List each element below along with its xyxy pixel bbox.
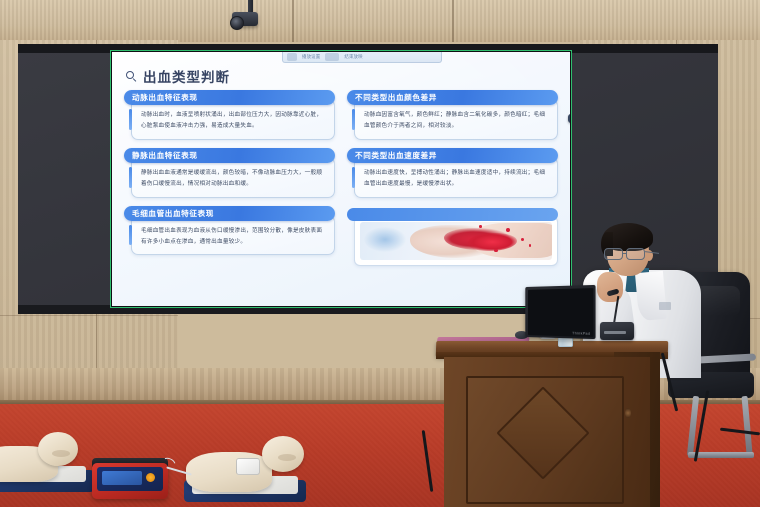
card-header-label: 不同类型出血速度差异	[355, 150, 437, 161]
wall-panel-line	[0, 315, 178, 316]
card-body-text: 毛细血管出血表现为血液从伤口缓慢渗出，范围较分散，像是皮肤表面有许多小血点在渗血…	[141, 226, 326, 248]
aed-electrode-pad	[236, 458, 260, 475]
card-header: 不同类型出血速度差异	[347, 148, 558, 163]
presentation-toolbar[interactable]: 播放设置 结束放映	[282, 52, 442, 63]
manikin-face	[52, 450, 70, 457]
aed-shock-button[interactable]	[146, 473, 155, 482]
toolbar-chip[interactable]	[287, 53, 297, 61]
slide-columns: 动脉出血特征表现 动脉出血时，血液呈喷射状涌出，出血部位压力大，因动脉靠近心脏，…	[124, 90, 558, 298]
ceiling-wall	[0, 0, 760, 42]
toolbar-end-show[interactable]: 结束放映	[344, 54, 362, 60]
cpr-manikin-right	[178, 432, 314, 507]
bleeding-wound-photo	[360, 222, 552, 260]
camera-lens-icon	[230, 16, 244, 30]
card-header: 不同类型出血颜色差异	[347, 90, 558, 105]
lecture-hall-screenshot: 播放设置 结束放映 出血类型判断 动脉出血特征表现 动脉出血时，血液呈喷射状涌	[0, 0, 760, 507]
card-header-label: 不同类型出血颜色差异	[355, 92, 437, 103]
eyeglasses-icon	[604, 248, 652, 261]
laptop[interactable]: ThinkPad	[525, 285, 595, 339]
card-header-label: 动脉出血特征表现	[132, 92, 198, 103]
toolbar-chip[interactable]	[325, 53, 339, 61]
cpr-manikin-left	[0, 424, 106, 496]
card-body-text: 动脉血因富含氧气，颜色鲜红；静脉血含二氧化碳多，颜色暗红；毛细血管颜色介于两者之…	[364, 110, 549, 132]
projected-slide[interactable]: 播放设置 结束放映 出血类型判断 动脉出血特征表现 动脉出血时，血液呈喷射状涌	[110, 50, 572, 308]
slide-right-column: 不同类型出血颜色差异 动脉血因富含氧气，颜色鲜红；静脉血含二氧化碳多，颜色暗红；…	[347, 90, 558, 298]
slide-title-row: 出血类型判断	[126, 66, 230, 86]
podium-handle	[625, 408, 631, 418]
wall-seam	[292, 0, 294, 42]
card-body: 毛细血管出血表现为血液从伤口缓慢渗出，范围较分散，像是皮肤表面有许多小血点在渗血…	[131, 215, 335, 256]
aed-trainer[interactable]	[92, 463, 168, 499]
card-header: 静脉出血特征表现	[124, 148, 335, 163]
aed-display	[102, 471, 142, 485]
card-body: 动脉血因富含氧气，颜色鲜红；静脉血含二氧化碳多，颜色暗红；毛细血管颜色介于两者之…	[354, 99, 558, 140]
photo-blue-wash	[364, 227, 406, 252]
card-body: 动脉出血时，血液呈喷射状涌出，出血部位压力大，因动脉靠近心脏，心脏泵血使血液冲击…	[131, 99, 335, 140]
card-bleeding-photo	[347, 208, 558, 266]
card-body-text: 动脉出血时，血液呈喷射状涌出，出血部位压力大，因动脉靠近心脏，心脏泵血使血液冲击…	[141, 110, 326, 132]
card-header-label: 毛细血管出血特征表现	[132, 208, 214, 219]
card-body-text: 动脉出血速度快，呈搏动性涌出；静脉出血速度适中，持续流出；毛细血管出血速度最慢，…	[364, 168, 549, 190]
card-color-difference: 不同类型出血颜色差异 动脉血因富含氧气，颜色鲜红；静脉血含二氧化碳多，颜色暗红；…	[347, 90, 558, 140]
card-header: 毛细血管出血特征表现	[124, 206, 335, 221]
photo-card-header	[347, 208, 558, 221]
card-body: 动脉出血速度快，呈搏动性涌出；静脉出血速度适中，持续流出；毛细血管出血速度最慢，…	[354, 157, 558, 198]
card-header: 动脉出血特征表现	[124, 90, 335, 105]
magnifier-icon	[126, 71, 137, 82]
photo-blood-droplet	[479, 225, 482, 228]
slide-left-column: 动脉出血特征表现 动脉出血时，血液呈喷射状涌出，出血部位压力大，因动脉靠近心脏，…	[124, 90, 335, 298]
page-title: 出血类型判断	[143, 66, 230, 86]
card-body: 静脉出血血液通常是缓缓流出，颜色较暗，不像动脉血压力大，一般顺着伤口缓慢流出，情…	[131, 157, 335, 198]
card-speed-difference: 不同类型出血速度差异 动脉出血速度快，呈搏动性涌出；静脉出血速度适中，持续流出；…	[347, 148, 558, 198]
laptop-screen-bezel	[528, 288, 593, 337]
manikin-head	[38, 432, 78, 466]
photo-card-body	[354, 216, 558, 266]
card-capillary-bleeding: 毛细血管出血特征表现 毛细血管出血表现为血液从伤口缓慢渗出，范围较分散，像是皮肤…	[124, 206, 335, 256]
glasses-lens-left	[604, 248, 623, 260]
slide-collapse-button[interactable]	[568, 114, 570, 123]
card-body-text: 静脉出血血液通常是缓缓流出，颜色较暗，不像动脉血压力大，一般顺着伤口缓慢流出，情…	[141, 168, 326, 190]
microphone-label	[604, 331, 626, 334]
wall-seam	[452, 0, 454, 42]
card-header-label: 静脉出血特征表现	[132, 150, 198, 161]
card-arterial-bleeding: 动脉出血特征表现 动脉出血时，血液呈喷射状涌出，出血部位压力大，因动脉靠近心脏，…	[124, 90, 335, 140]
toolbar-play-settings[interactable]: 播放设置	[302, 54, 320, 60]
glasses-lens-right	[626, 248, 645, 260]
card-venous-bleeding: 静脉出血特征表现 静脉出血血液通常是缓缓流出，颜色较暗，不像动脉血压力大，一般顺…	[124, 148, 335, 198]
presenter-badge	[659, 302, 671, 310]
manikin-face	[278, 454, 296, 461]
laptop-brand-label: ThinkPad	[572, 331, 590, 336]
